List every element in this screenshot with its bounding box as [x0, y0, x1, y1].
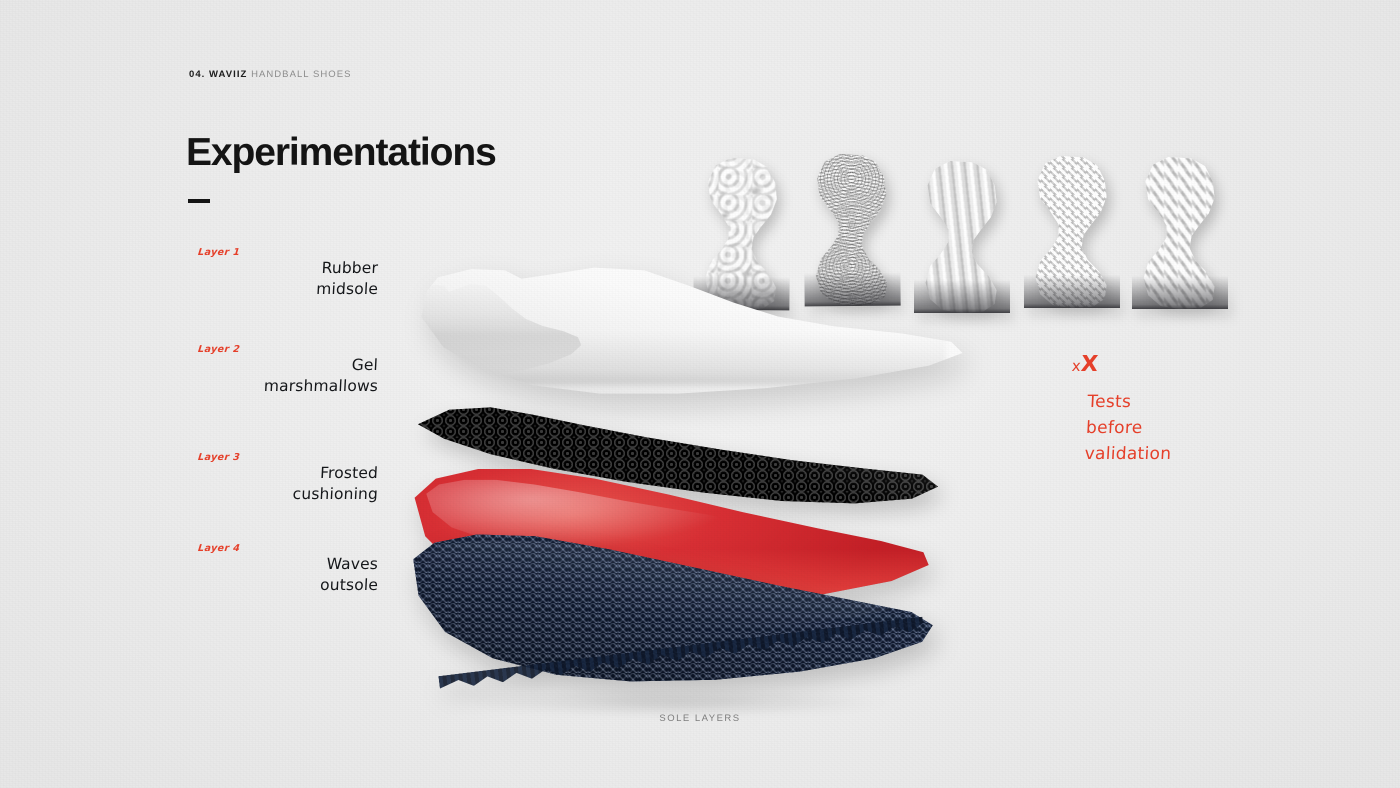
- quilt-wide-texture: [1132, 157, 1228, 309]
- tests-line-3: validation: [1084, 441, 1172, 467]
- quilt-fine-texture: [1024, 156, 1120, 308]
- tests-annotation: xX Tests before validation: [1068, 352, 1173, 467]
- layer-4-name-line1: Waves: [189, 554, 380, 575]
- texture-sample-5: [1132, 157, 1228, 309]
- layer-1-name-line2: midsole: [189, 279, 380, 300]
- texture-sample-4: [1024, 156, 1120, 308]
- layer-4-name-line2: outsole: [189, 575, 380, 596]
- layer-1-name-line1: Rubber: [189, 258, 380, 279]
- tests-annotation-text: Tests before validation: [1084, 389, 1175, 467]
- layer-note-3: Layer 3 Frosted cushioning: [190, 452, 380, 505]
- rubber-midsole-lip: [432, 332, 945, 385]
- layer-note-1: Layer 1 Rubber midsole: [190, 247, 380, 300]
- layer-3-name-line1: Frosted: [189, 463, 380, 484]
- layer-note-4: Layer 4 Waves outsole: [190, 543, 380, 596]
- breadcrumb-project: 04. WAVIIZ: [189, 69, 247, 80]
- breadcrumb: 04. WAVIIZ HANDBALL SHOES: [189, 68, 351, 81]
- layer-3-name-line2: cushioning: [189, 484, 380, 505]
- sole-layer-waves-outsole: [408, 523, 938, 688]
- layer-3-number: Layer 3: [197, 452, 380, 463]
- layer-4-number: Layer 4: [197, 543, 380, 554]
- waves-outsole-topface: [419, 533, 917, 635]
- sole-layer-rubber-midsole: [410, 255, 968, 395]
- slide-canvas: 04. WAVIIZ HANDBALL SHOES Experimentatio…: [0, 0, 1400, 788]
- layer-2-name-line1: Gel: [189, 355, 380, 376]
- exploded-sole-stack: [400, 255, 980, 705]
- figure-caption: SOLE LAYERS: [0, 713, 1400, 724]
- layer-note-2: Layer 2 Gel marshmallows: [190, 344, 380, 397]
- page-title: Experimentations: [186, 130, 496, 176]
- layer-2-name-line2: marshmallows: [189, 376, 380, 397]
- layer-1-number: Layer 1: [197, 247, 380, 258]
- rubber-midsole-body: [410, 255, 968, 395]
- tests-line-1: Tests: [1087, 389, 1175, 415]
- breadcrumb-subject: HANDBALL SHOES: [247, 69, 351, 80]
- tests-count: xX: [1071, 352, 1174, 377]
- tests-line-2: before: [1085, 415, 1173, 441]
- tests-count-value: X: [1080, 352, 1099, 377]
- title-underline-rule: [188, 199, 210, 203]
- layer-2-number: Layer 2: [197, 344, 380, 355]
- waves-outsole-body: [408, 523, 938, 688]
